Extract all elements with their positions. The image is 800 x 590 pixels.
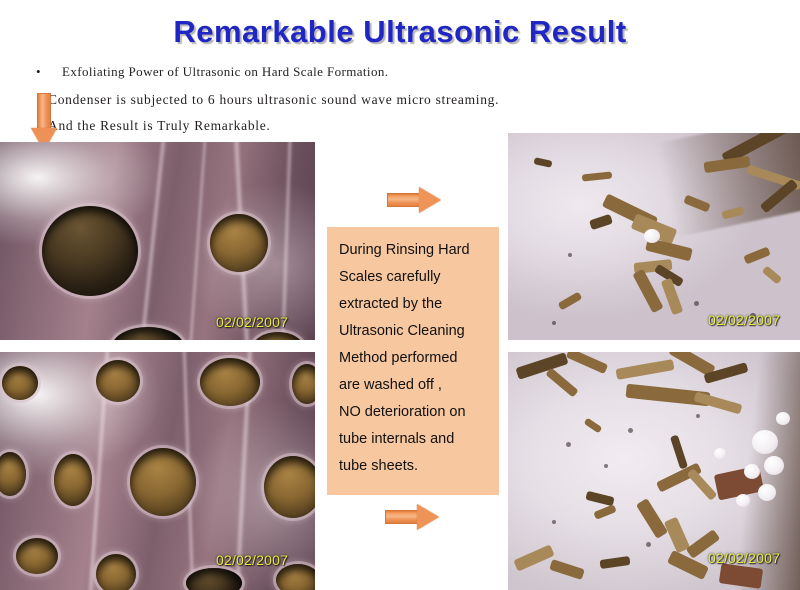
scale-chip xyxy=(600,556,631,569)
tube-hole xyxy=(210,214,268,272)
tube-hole xyxy=(0,452,26,496)
caption-line: Ultrasonic Cleaning xyxy=(339,318,487,345)
caption-line: tube internals and xyxy=(339,426,487,453)
scale-chip xyxy=(585,491,614,507)
scale-chip xyxy=(582,171,613,181)
scale-chip xyxy=(743,246,770,264)
date-stamp: 02/02/2007 xyxy=(216,552,288,568)
date-stamp: 02/02/2007 xyxy=(708,550,780,566)
tube-hole xyxy=(42,206,138,296)
photo-scale-debris-bottom: 02/02/2007 xyxy=(508,352,800,590)
surface-streak xyxy=(139,142,167,340)
photo-scale-debris-top: 02/02/2007 xyxy=(508,133,800,340)
scale-chip xyxy=(558,292,583,311)
right-arrow-head xyxy=(419,187,441,213)
foam-bubble xyxy=(744,464,760,479)
debris-cluster xyxy=(656,133,800,238)
tube-hole xyxy=(264,456,315,518)
foam-bubble xyxy=(758,484,776,501)
bullet-text: Exfoliating Power of Ultrasonic on Hard … xyxy=(62,64,388,79)
down-arrow-shaft xyxy=(37,93,51,129)
scale-chip xyxy=(694,392,743,415)
scale-chip xyxy=(687,468,718,501)
tube-hole xyxy=(252,332,304,340)
scale-chip xyxy=(670,435,688,470)
tube-hole xyxy=(292,364,315,404)
speck xyxy=(694,301,699,306)
tube-hole xyxy=(16,538,58,574)
photo-tube-sheet-after: 02/02/2007 xyxy=(0,352,315,590)
surface-streak xyxy=(280,142,293,340)
right-arrow-bottom-icon xyxy=(385,504,439,530)
scale-chip xyxy=(762,266,782,285)
caption-line: Method performed xyxy=(339,345,487,372)
tube-hole xyxy=(130,448,196,516)
tube-hole xyxy=(96,554,136,590)
foam-bubble xyxy=(714,448,726,459)
tube-hole xyxy=(200,358,260,406)
scale-chip xyxy=(589,214,613,230)
right-arrow-top-icon xyxy=(387,187,441,213)
scale-chip xyxy=(545,367,578,397)
scale-chip xyxy=(593,504,616,520)
scale-chip xyxy=(632,269,663,313)
foam-bubble xyxy=(644,229,660,243)
speck xyxy=(696,414,700,418)
scale-chip xyxy=(615,359,674,380)
bullet-marker-icon: • xyxy=(36,65,62,78)
caption-line: During Rinsing Hard xyxy=(339,237,487,264)
date-stamp: 02/02/2007 xyxy=(216,314,288,330)
caption-textbox: During Rinsing Hard Scales carefully ext… xyxy=(327,227,499,495)
speck xyxy=(646,542,651,547)
tube-hole xyxy=(186,568,242,590)
right-arrow-shaft xyxy=(385,510,419,524)
bullet-line: •Exfoliating Power of Ultrasonic on Hard… xyxy=(36,64,388,80)
scale-chip xyxy=(533,157,552,168)
right-arrow-shaft xyxy=(387,193,421,207)
date-stamp: 02/02/2007 xyxy=(708,312,780,328)
scale-chip xyxy=(549,559,585,580)
surface-streak xyxy=(189,142,208,340)
caption-line: Scales carefully xyxy=(339,264,487,291)
scale-chip xyxy=(513,544,554,571)
scale-chip xyxy=(566,352,608,374)
scale-chip xyxy=(584,418,603,434)
speck xyxy=(568,253,572,257)
tube-hole xyxy=(2,366,38,400)
foam-bubble xyxy=(764,456,784,475)
photo-surface xyxy=(0,142,315,340)
slide-canvas: Remarkable Ultrasonic Result •Exfoliatin… xyxy=(0,0,800,590)
tube-hole xyxy=(112,327,184,340)
caption-line: NO deterioration on xyxy=(339,399,487,426)
speck xyxy=(552,520,556,524)
caption-line: extracted by the xyxy=(339,291,487,318)
speck xyxy=(552,321,556,325)
page-title: Remarkable Ultrasonic Result xyxy=(0,14,800,50)
tube-hole xyxy=(96,360,140,402)
scale-chip xyxy=(636,498,668,539)
photo-tube-sheet-before: 02/02/2007 xyxy=(0,142,315,340)
right-arrow-head xyxy=(417,504,439,530)
scale-chip xyxy=(667,550,709,580)
foam-bubble xyxy=(752,430,778,454)
paragraph-condenser: Condenser is subjected to 6 hours ultras… xyxy=(48,92,499,108)
photo-surface xyxy=(508,133,800,340)
foam-bubble xyxy=(776,412,790,425)
caption-line: are washed off , xyxy=(339,372,487,399)
tube-hole xyxy=(54,454,92,506)
speck xyxy=(628,428,633,433)
caption-line: tube sheets. xyxy=(339,453,487,480)
foam-bubble xyxy=(736,494,750,507)
speck xyxy=(604,464,608,468)
paragraph-result: And the Result is Truly Remarkable. xyxy=(48,118,271,134)
speck xyxy=(566,442,571,447)
